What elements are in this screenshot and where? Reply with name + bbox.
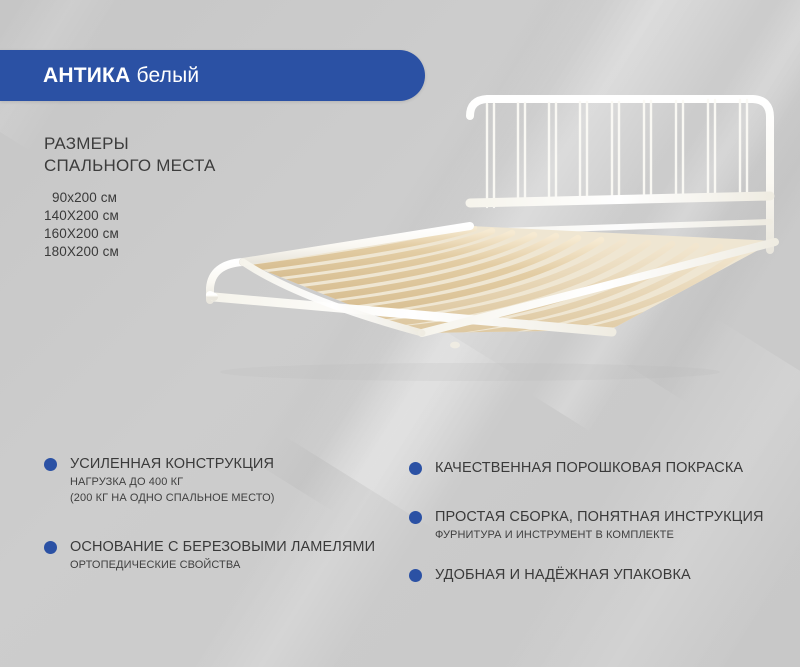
feature-title: ПРОСТАЯ СБОРКА, ПОНЯТНАЯ ИНСТРУКЦИЯ bbox=[435, 508, 764, 526]
size-option: 160X200 см bbox=[44, 225, 216, 243]
sizes-heading-line-1: РАЗМЕРЫ bbox=[44, 133, 216, 155]
product-title-banner: АНТИКА белый bbox=[0, 50, 425, 101]
feature-item: УДОБНАЯ И НАДЁЖНАЯ УПАКОВКА bbox=[409, 566, 691, 584]
feature-subtitle: ОРТОПЕДИЧЕСКИЕ СВОЙСТВА bbox=[70, 558, 375, 572]
size-option: 180X200 см bbox=[44, 243, 216, 261]
feature-item: ОСНОВАНИЕ С БЕРЕЗОВЫМИ ЛАМЕЛЯМИ ОРТОПЕДИ… bbox=[44, 538, 375, 572]
feature-title: КАЧЕСТВЕННАЯ ПОРОШКОВАЯ ПОКРАСКА bbox=[435, 459, 743, 477]
sizes-list: 90x200 см 140X200 см 160X200 см 180X200 … bbox=[44, 189, 216, 261]
bullet-dot-icon bbox=[44, 458, 57, 471]
sizes-heading: РАЗМЕРЫ СПАЛЬНОГО МЕСТА bbox=[44, 133, 216, 177]
size-option: 90x200 см bbox=[44, 189, 216, 207]
feature-subtitle: НАГРУЗКА ДО 400 КГ bbox=[70, 475, 275, 489]
page-title: АНТИКА белый bbox=[0, 64, 199, 88]
feature-title: УДОБНАЯ И НАДЁЖНАЯ УПАКОВКА bbox=[435, 566, 691, 584]
size-option: 140X200 см bbox=[44, 207, 216, 225]
product-infographic: АНТИКА белый РАЗМЕРЫ СПАЛЬНОГО МЕСТА 90x… bbox=[0, 0, 800, 667]
sizes-heading-line-2: СПАЛЬНОГО МЕСТА bbox=[44, 155, 216, 177]
bed-slats bbox=[230, 215, 790, 350]
bullet-dot-icon bbox=[409, 511, 422, 524]
product-color: белый bbox=[136, 64, 199, 87]
feature-subtitle: (200 КГ НА ОДНО СПАЛЬНОЕ МЕСТО) bbox=[70, 491, 275, 505]
feature-title: ОСНОВАНИЕ С БЕРЕЗОВЫМИ ЛАМЕЛЯМИ bbox=[70, 538, 375, 556]
bullet-dot-icon bbox=[409, 462, 422, 475]
feature-item: КАЧЕСТВЕННАЯ ПОРОШКОВАЯ ПОКРАСКА bbox=[409, 459, 743, 477]
bullet-dot-icon bbox=[409, 569, 422, 582]
feature-item: ПРОСТАЯ СБОРКА, ПОНЯТНАЯ ИНСТРУКЦИЯ ФУРН… bbox=[409, 508, 764, 542]
sizes-block: РАЗМЕРЫ СПАЛЬНОГО МЕСТА 90x200 см 140X20… bbox=[44, 133, 216, 261]
feature-title: УСИЛЕННАЯ КОНСТРУКЦИЯ bbox=[70, 455, 275, 473]
feature-subtitle: ФУРНИТУРА И ИНСТРУМЕНТ В КОМПЛЕКТЕ bbox=[435, 528, 764, 542]
bullet-dot-icon bbox=[44, 541, 57, 554]
product-name: АНТИКА bbox=[43, 64, 130, 87]
feature-item: УСИЛЕННАЯ КОНСТРУКЦИЯ НАГРУЗКА ДО 400 КГ… bbox=[44, 455, 275, 505]
